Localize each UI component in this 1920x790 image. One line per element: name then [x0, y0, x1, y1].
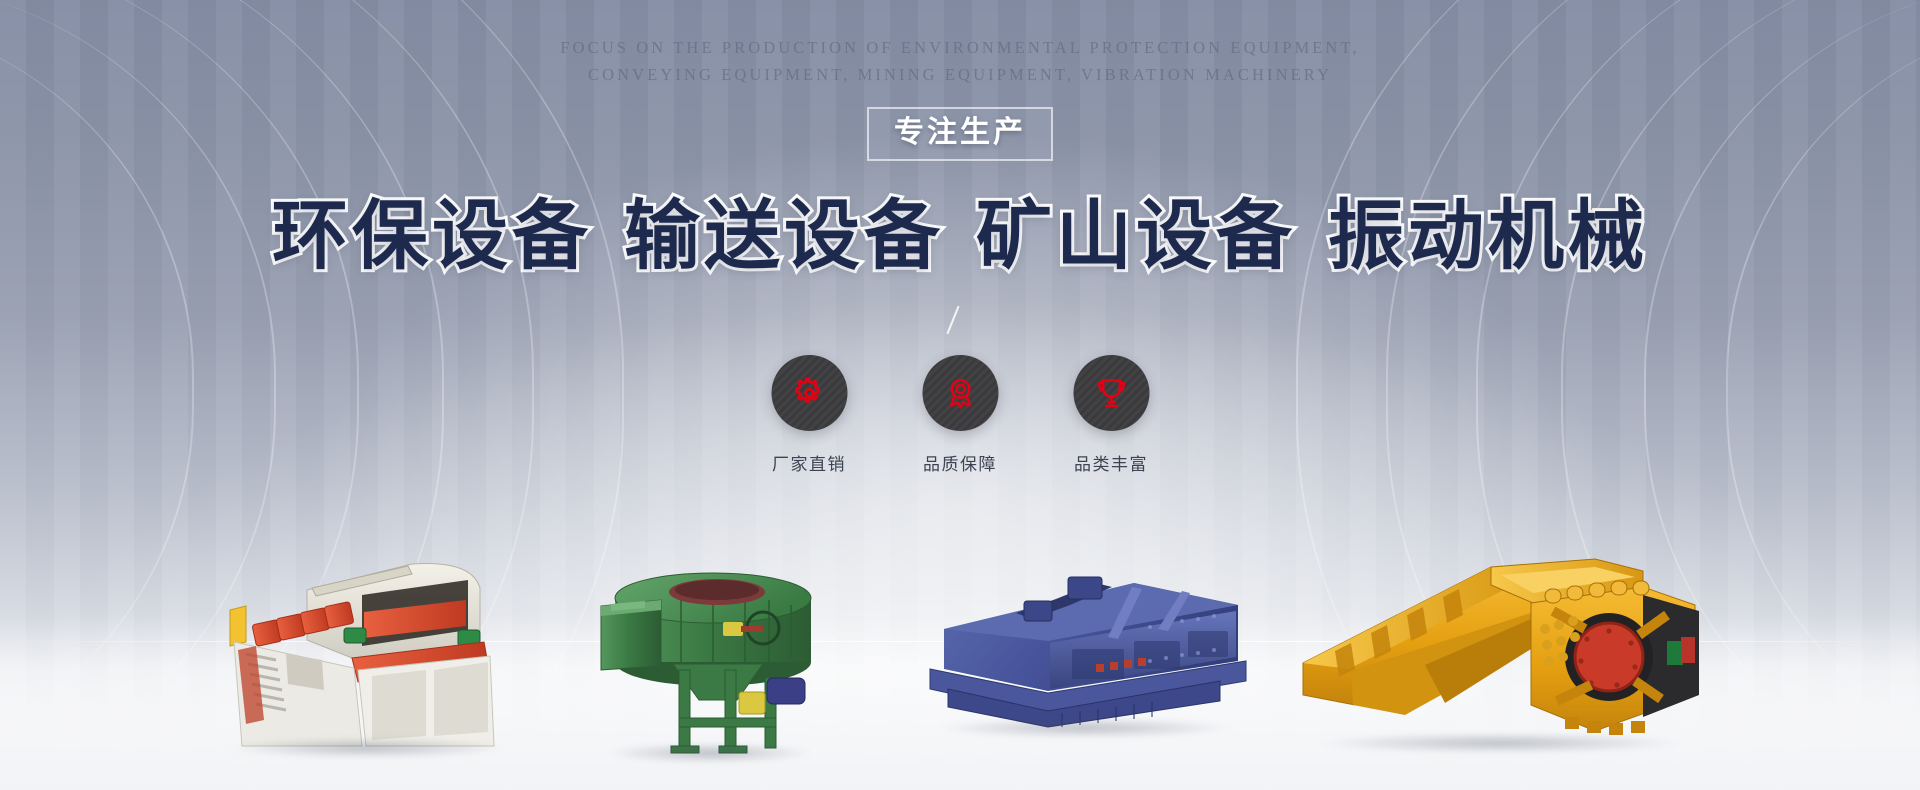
eyebrow-tagline: FOCUS ON THE PRODUCTION OF ENVIRONMENTAL… [0, 34, 1920, 88]
machine-yellow-jaw-crusher [1295, 545, 1705, 745]
green-disc-feeder-machine [595, 560, 825, 755]
headline-segment-4: 振动机械 [1328, 194, 1648, 279]
machine-blue-vibrating-screen [920, 565, 1250, 730]
machine-shadow [1320, 733, 1681, 753]
hero-banner: FOCUS ON THE PRODUCTION OF ENVIRONMENTAL… [0, 0, 1920, 790]
trophy-icon [1073, 355, 1149, 431]
yellow-jaw-crusher-machine [1295, 545, 1705, 745]
blue-vibrating-screen-machine [920, 565, 1250, 730]
page-title: 环保设备输送设备矿山设备振动机械 [0, 196, 1920, 278]
focus-badge-label: 专注生产 [894, 118, 1026, 148]
headline-segment-1: 环保设备 [272, 194, 592, 279]
feature-list: 厂家直销 品质保障 品类丰富 [764, 355, 1157, 475]
machine-shadow [231, 738, 504, 758]
machine-shadow [609, 743, 811, 763]
gear-icon [771, 355, 847, 431]
feature-item-rich-variety[interactable]: 品类丰富 [1066, 355, 1157, 475]
machine-gallery [0, 470, 1920, 790]
focus-badge: 专注生产 [867, 107, 1053, 161]
headline-segment-3: 矿山设备 [976, 194, 1296, 279]
machine-conveyor-separator [212, 550, 522, 750]
feature-item-quality-guarantee[interactable]: 品质保障 [915, 355, 1006, 475]
machine-green-disc-feeder [595, 560, 825, 755]
decorative-slash [946, 306, 959, 335]
conveyor-separator-machine [212, 550, 522, 750]
feature-item-factory-direct[interactable]: 厂家直销 [764, 355, 855, 475]
machine-shadow [940, 718, 1230, 738]
medal-icon [922, 355, 998, 431]
headline-segment-2: 输送设备 [624, 194, 944, 279]
